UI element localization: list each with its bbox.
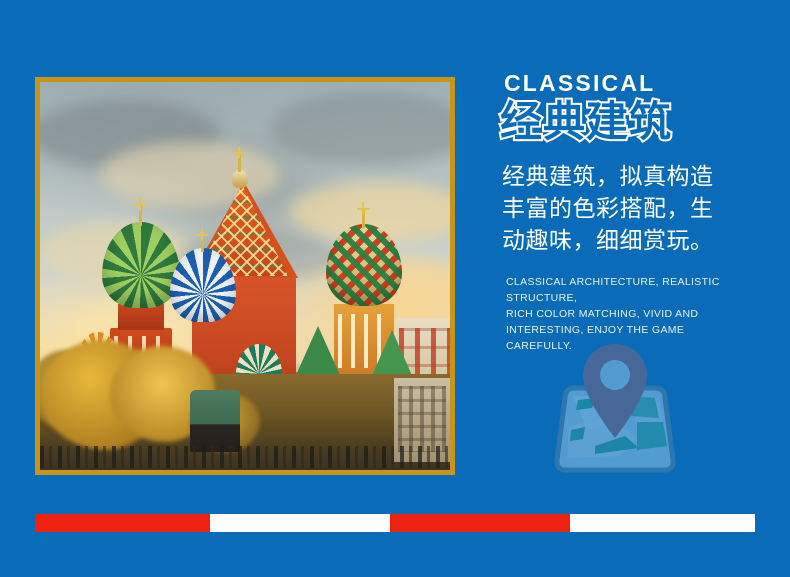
description-cn-line: 动趣味，细细赏玩。 [502,224,750,256]
green-spiral-dome [102,222,180,308]
foreground-ground [40,374,450,470]
eyebrow-classical: CLASSICAL [504,70,770,96]
cathedral-photo [40,82,450,470]
cross-icon [201,229,203,240]
bar-segment-white-1 [210,514,390,532]
cross-icon [238,147,240,158]
text-column: CLASSICAL 经典建筑 经典建筑，拟真构造 丰富的色彩搭配，生 动趣味，细… [500,70,770,354]
description-cn-line: 丰富的色彩搭配，生 [502,192,750,224]
description-en-line: CLASSICAL ARCHITECTURE, REALISTIC STRUCT… [506,274,752,306]
bottom-color-bar [0,514,790,532]
bar-segment-white-2 [570,514,755,532]
crowd-of-visitors [40,446,450,468]
description-en-line: RICH COLOR MATCHING, VIVID AND [506,306,752,322]
description-cn-line: 经典建筑，拟真构造 [502,160,750,192]
page-title: 经典建筑 [500,98,770,146]
cross-icon [139,198,141,211]
cross-icon [362,202,364,214]
poster-canvas: CLASSICAL 经典建筑 经典建筑，拟真构造 丰富的色彩搭配，生 动趣味，细… [0,0,790,577]
bar-segment-red-1 [35,514,210,532]
red-green-faceted-dome [326,224,402,306]
map-location-pin-icon [545,330,685,480]
bar-segment-red-2 [390,514,570,532]
description-chinese: 经典建筑，拟真构造 丰富的色彩搭配，生 动趣味，细细赏玩。 [502,160,750,256]
green-tent-roof [370,330,414,380]
central-cupola [232,170,248,188]
minin-pozharsky-monument [190,390,240,452]
photo-frame [35,77,455,475]
